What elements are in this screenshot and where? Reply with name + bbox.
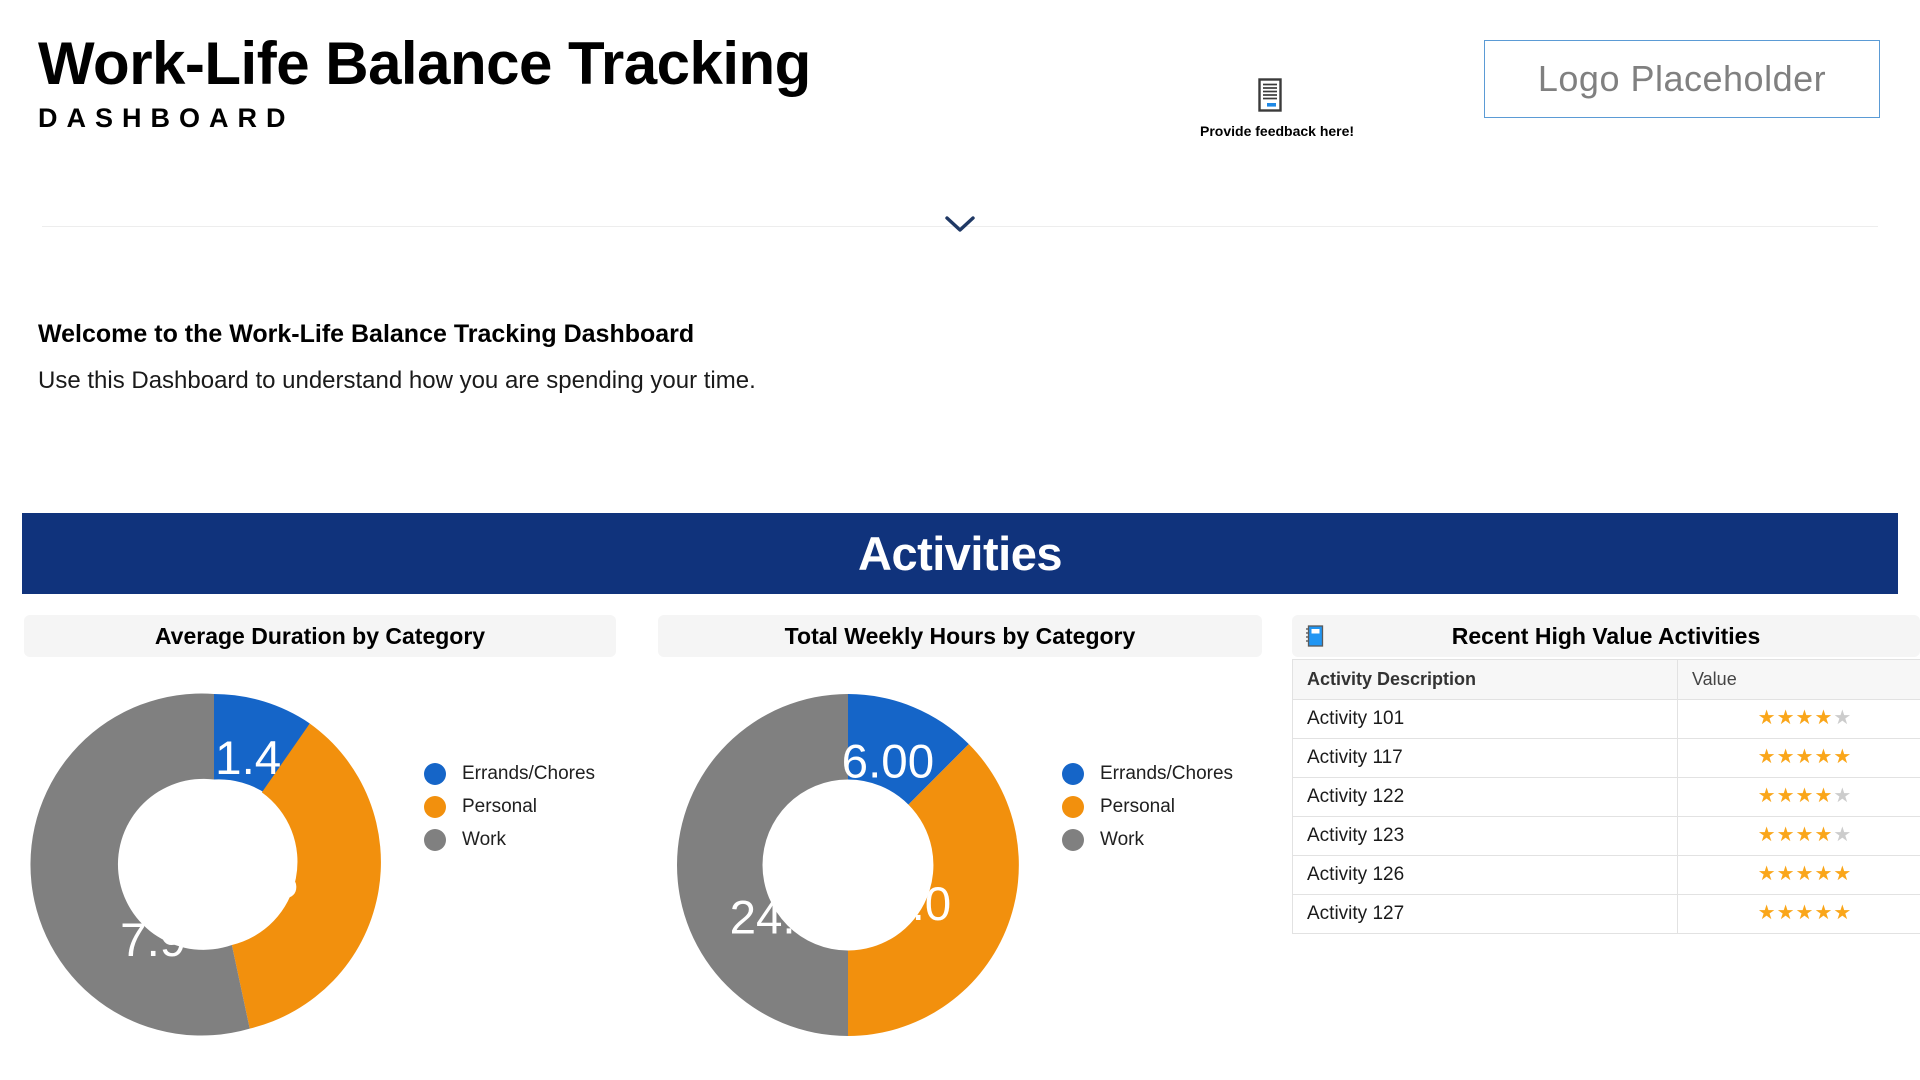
legend-swatch-errands-icon: [1062, 763, 1084, 785]
cell-value: ★★★★★: [1678, 700, 1920, 739]
cell-value: ★★★★★: [1678, 856, 1920, 895]
document-feedback-icon: [1200, 78, 1340, 117]
legend-item-work[interactable]: Work: [424, 823, 595, 856]
table-row[interactable]: Activity 101 ★★★★★: [1293, 700, 1920, 739]
star-rating: ★★★★★: [1758, 903, 1853, 923]
table-row[interactable]: Activity 122 ★★★★★: [1293, 778, 1920, 817]
activities-banner-title: Activities: [858, 526, 1062, 581]
cell-value: ★★★★★: [1678, 817, 1920, 856]
legend-total-weekly-hours: Errands/Chores Personal Work: [1062, 757, 1233, 856]
legend-label-personal: Personal: [462, 796, 537, 818]
donut-slice-work[interactable]: [677, 694, 848, 1036]
legend-item-work[interactable]: Work: [1062, 823, 1233, 856]
column-header-description[interactable]: Activity Description: [1293, 660, 1678, 700]
legend-label-work: Work: [1100, 829, 1144, 851]
provide-feedback-button[interactable]: Provide feedback here!: [1200, 78, 1340, 141]
panel-total-weekly-hours: Total Weekly Hours by Category 24.0 18.0…: [640, 615, 1280, 1080]
donut-svg-total-weekly-hours: 24.0 18.0 6.00: [658, 675, 1038, 1055]
feedback-label: Provide feedback here!: [1200, 123, 1354, 139]
legend-label-work: Work: [462, 829, 506, 851]
cell-value: ★★★★★: [1678, 739, 1920, 778]
donut-value-work: 7.9: [120, 914, 186, 967]
star-rating: ★★★★★: [1758, 825, 1853, 845]
cell-description: Activity 122: [1293, 778, 1678, 817]
panel-header-average-duration: Average Duration by Category: [24, 615, 616, 657]
donut-svg-average-duration: 7.9 5.5 1.4: [24, 675, 404, 1055]
donut-chart-total-weekly-hours: 24.0 18.0 6.00 Errands/Chores Personal W…: [658, 675, 1262, 1075]
column-header-value[interactable]: Value: [1678, 660, 1920, 700]
legend-item-errands[interactable]: Errands/Chores: [424, 757, 595, 790]
title-block: Work-Life Balance Tracking DASHBOARD: [38, 32, 811, 134]
donut-value-work: 24.0: [730, 891, 822, 944]
panel-title: Average Duration by Category: [155, 623, 485, 650]
recent-high-value-activities-table: Activity Description Value Activity 101 …: [1292, 659, 1920, 934]
cell-description: Activity 101: [1293, 700, 1678, 739]
table-body: Activity 101 ★★★★★ Activity 117 ★★★★★ Ac…: [1293, 700, 1920, 934]
legend-swatch-errands-icon: [424, 763, 446, 785]
legend-item-errands[interactable]: Errands/Chores: [1062, 757, 1233, 790]
table-header-row: Activity Description Value: [1293, 660, 1920, 700]
star-rating: ★★★★★: [1758, 708, 1853, 728]
legend-average-duration: Errands/Chores Personal Work: [424, 757, 595, 856]
table-row[interactable]: Activity 126 ★★★★★: [1293, 856, 1920, 895]
star-rating: ★★★★★: [1758, 747, 1853, 767]
table-row[interactable]: Activity 127 ★★★★★: [1293, 895, 1920, 934]
notebook-icon: [1306, 625, 1324, 647]
legend-label-errands: Errands/Chores: [1100, 763, 1233, 785]
cell-value: ★★★★★: [1678, 778, 1920, 817]
legend-label-errands: Errands/Chores: [462, 763, 595, 785]
table-row[interactable]: Activity 117 ★★★★★: [1293, 739, 1920, 778]
cell-description: Activity 123: [1293, 817, 1678, 856]
donut-value-errands: 6.00: [842, 736, 934, 789]
star-rating: ★★★★★: [1758, 864, 1853, 884]
panel-average-duration: Average Duration by Category 7.9 5.5 1.4…: [0, 615, 640, 1080]
panel-header-total-weekly-hours: Total Weekly Hours by Category: [658, 615, 1262, 657]
legend-label-personal: Personal: [1100, 796, 1175, 818]
panel-title: Recent High Value Activities: [1452, 623, 1760, 650]
welcome-block: Welcome to the Work-Life Balance Trackin…: [38, 318, 756, 395]
dashboard-header: Work-Life Balance Tracking DASHBOARD Pro…: [0, 0, 1920, 205]
welcome-title: Welcome to the Work-Life Balance Trackin…: [38, 318, 756, 351]
cell-description: Activity 126: [1293, 856, 1678, 895]
logo-placeholder: Logo Placeholder: [1484, 40, 1880, 118]
page-subtitle: DASHBOARD: [38, 103, 811, 134]
panels-row: Average Duration by Category 7.9 5.5 1.4…: [0, 615, 1920, 1080]
cell-description: Activity 127: [1293, 895, 1678, 934]
legend-swatch-work-icon: [1062, 829, 1084, 851]
star-rating: ★★★★★: [1758, 786, 1853, 806]
activities-section-banner: Activities: [22, 513, 1898, 594]
panel-recent-high-value-activities: Recent High Value Activities Activity De…: [1280, 615, 1920, 1080]
legend-swatch-personal-icon: [424, 796, 446, 818]
welcome-body: Use this Dashboard to understand how you…: [38, 367, 756, 395]
legend-item-personal[interactable]: Personal: [1062, 790, 1233, 823]
panel-header-recent-high-value: Recent High Value Activities: [1292, 615, 1920, 657]
chevron-down-icon[interactable]: [943, 213, 977, 240]
donut-value-personal: 18.0: [859, 878, 951, 931]
cell-description: Activity 117: [1293, 739, 1678, 778]
donut-chart-average-duration: 7.9 5.5 1.4 Errands/Chores Personal Work: [24, 675, 616, 1075]
page-title: Work-Life Balance Tracking: [38, 32, 811, 97]
donut-value-errands: 1.4: [215, 732, 281, 785]
table-row[interactable]: Activity 123 ★★★★★: [1293, 817, 1920, 856]
donut-value-personal: 5.5: [232, 855, 298, 908]
legend-swatch-personal-icon: [1062, 796, 1084, 818]
logo-placeholder-text: Logo Placeholder: [1538, 58, 1826, 100]
cell-value: ★★★★★: [1678, 895, 1920, 934]
panel-title: Total Weekly Hours by Category: [785, 623, 1136, 650]
legend-item-personal[interactable]: Personal: [424, 790, 595, 823]
collapse-divider: [0, 205, 1920, 249]
legend-swatch-work-icon: [424, 829, 446, 851]
